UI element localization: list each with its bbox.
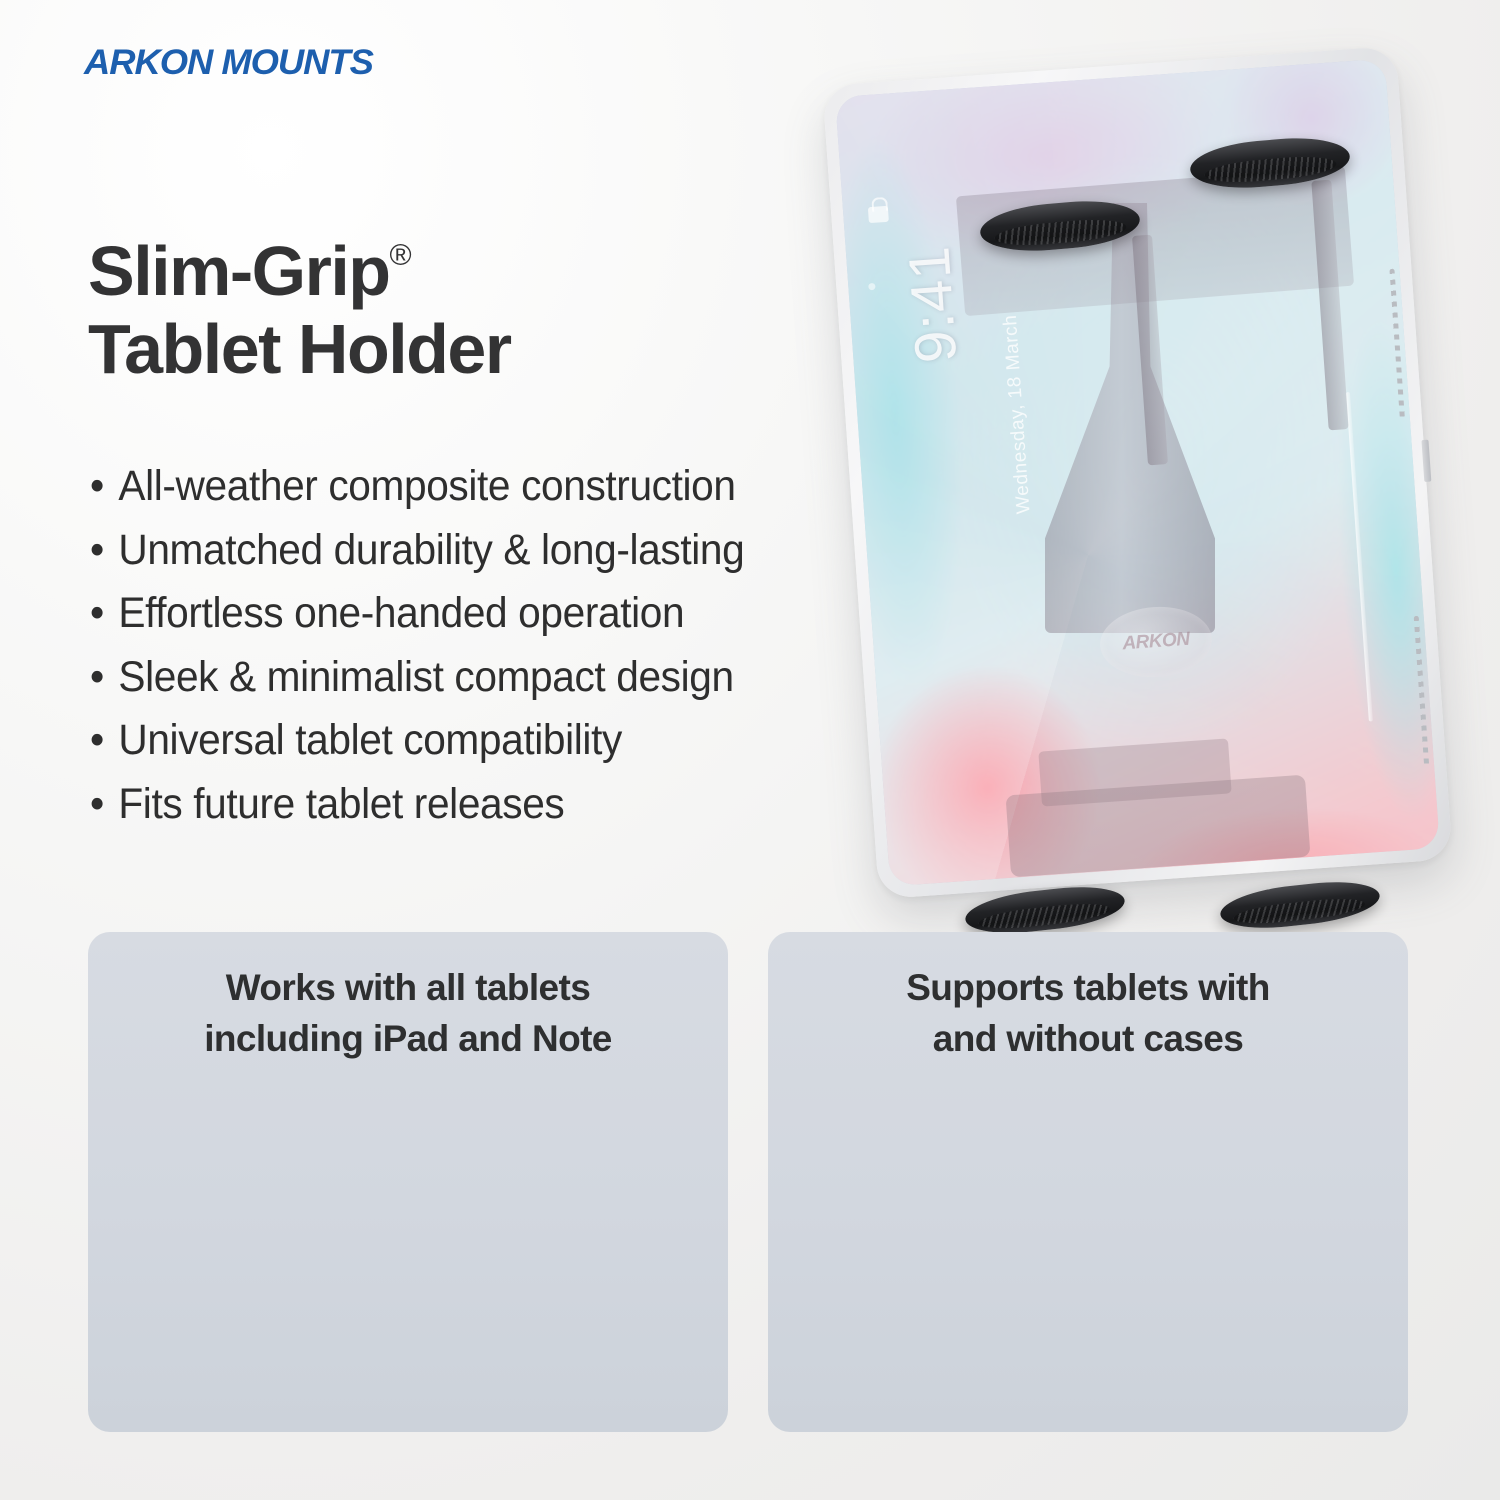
list-item: •Universal tablet compatibility [90,709,744,773]
bullet-icon: • [90,773,118,837]
bullet-icon: • [90,455,118,519]
lock-icon [868,206,889,223]
feature-text: All-weather composite construction [118,462,735,510]
panel-left-title: Works with all tablets including iPad an… [88,962,728,1064]
registered-trademark-icon: ® [390,239,411,272]
feature-text: Sleek & minimalist compact design [118,653,733,701]
panel-left-title-line-2: including iPad and Note [204,1018,612,1059]
list-item: •All-weather composite construction [90,455,744,519]
feature-text: Fits future tablet releases [118,780,564,828]
product-infographic: ARKON MOUNTS Slim-Grip® Tablet Holder •A… [0,0,1500,1500]
feature-text: Effortless one-handed operation [118,589,684,637]
panel-right-title: Supports tablets with and without cases [768,962,1408,1064]
list-item: •Sleek & minimalist compact design [90,646,744,710]
brand-logo: ARKON MOUNTS [84,43,373,83]
bullet-icon: • [90,519,118,583]
hero-product-image: 9:41 Wednesday, 18 March ARKON [830,30,1470,930]
bullet-icon: • [90,709,118,773]
page-title: Slim-Grip® Tablet Holder [88,232,511,389]
bullet-icon: • [90,646,118,710]
feature-list: •All-weather composite construction •Unm… [90,455,782,836]
feature-text: Unmatched durability & long-lasting [118,526,744,574]
bullet-icon: • [90,582,118,646]
mount-badge-text: ARKON [1099,627,1212,657]
panel-case-support: Supports tablets with and without cases … [768,932,1408,1432]
panel-compatibility: Works with all tablets including iPad an… [88,932,728,1432]
grip-pad-bottom-left [963,881,1126,938]
slim-grip-mount: ARKON [890,85,1410,915]
feature-text: Universal tablet compatibility [118,716,622,764]
headline-line-2: Tablet Holder [88,310,511,388]
list-item: •Fits future tablet releases [90,773,744,837]
grip-pad-bottom-right [1218,876,1381,933]
list-item: •Effortless one-handed operation [90,582,744,646]
panel-left-title-line-1: Works with all tablets [226,967,590,1008]
headline-line-1: Slim-Grip [88,232,390,310]
panel-right-title-line-1: Supports tablets with [906,967,1270,1008]
list-item: •Unmatched durability & long-lasting [90,519,744,583]
panel-right-title-line-2: and without cases [933,1018,1244,1059]
